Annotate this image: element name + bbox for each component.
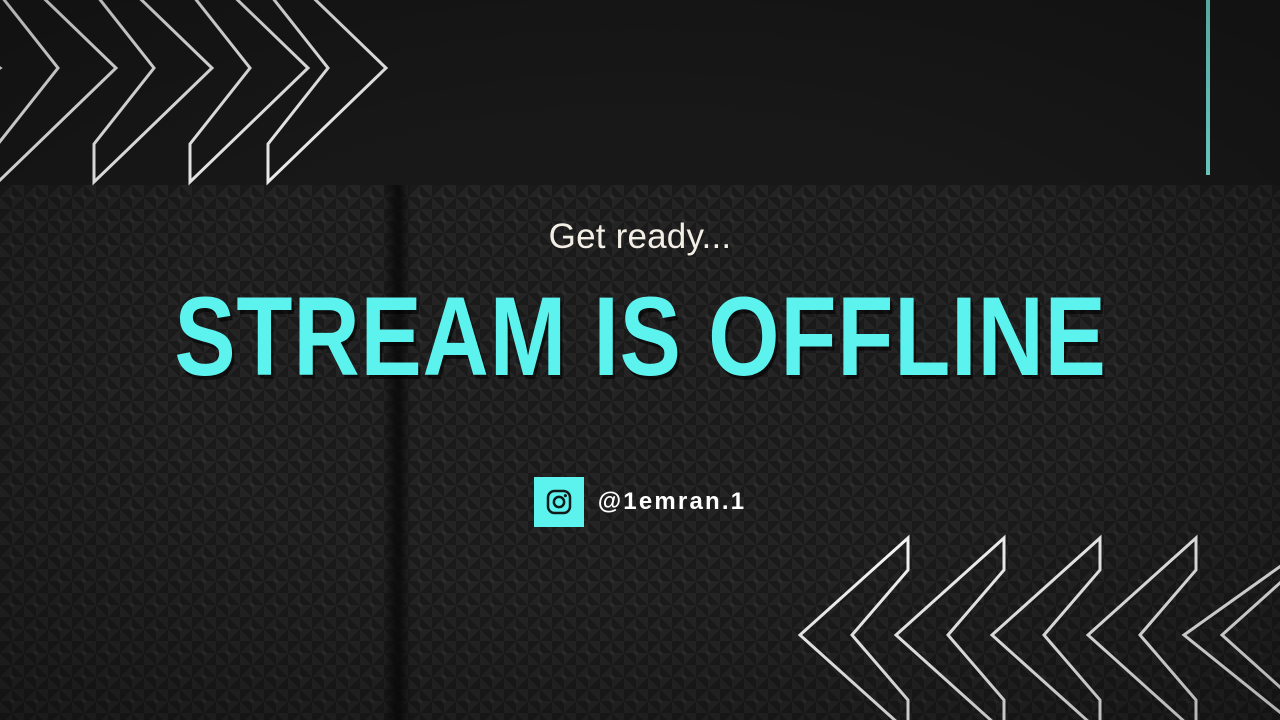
social-handle-text[interactable]: @1emran.1 xyxy=(598,490,747,514)
instagram-icon[interactable] xyxy=(534,477,584,527)
eyebrow-text: Get ready... xyxy=(549,219,732,254)
center-content: Get ready... STREAM IS OFFLINE @1emran.1 xyxy=(0,0,1280,720)
social-handle-group[interactable]: @1emran.1 xyxy=(534,477,747,527)
page-title: STREAM IS OFFLINE xyxy=(174,281,1106,393)
offline-screen: Get ready... STREAM IS OFFLINE @1emran.1 xyxy=(0,0,1280,720)
